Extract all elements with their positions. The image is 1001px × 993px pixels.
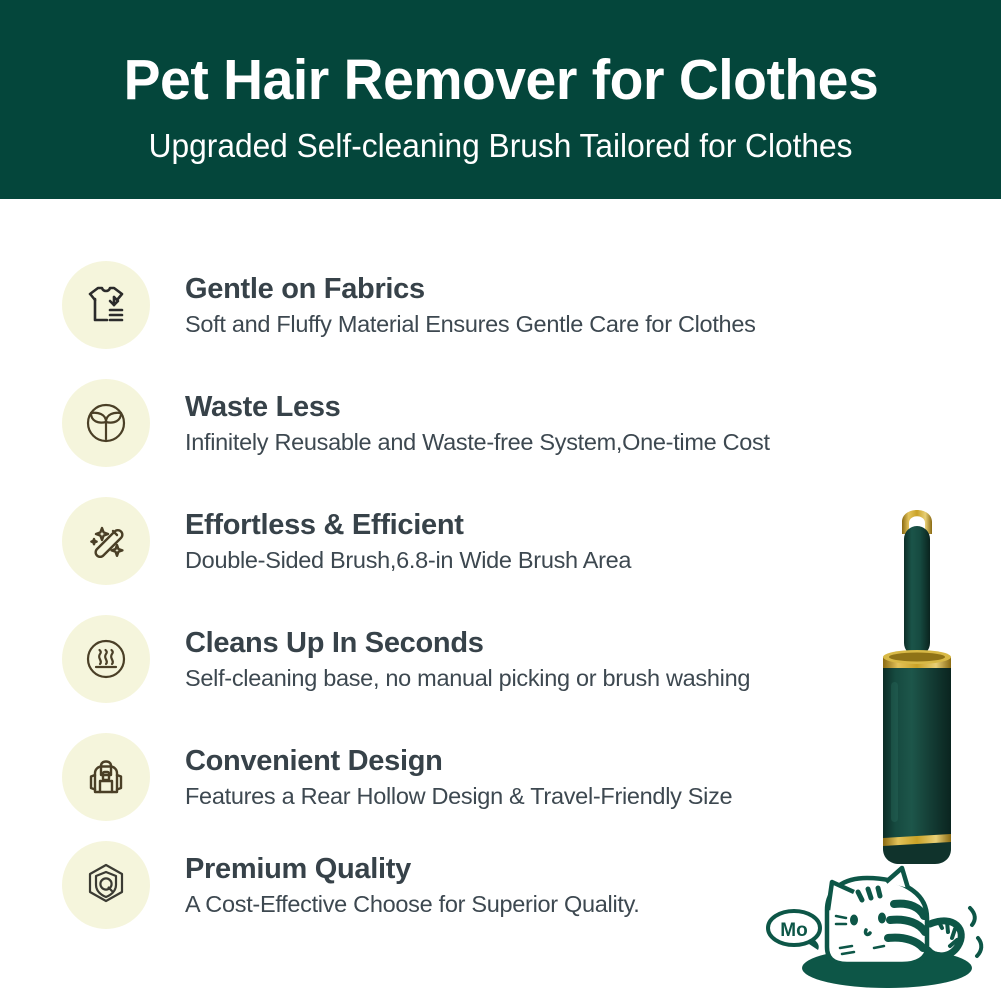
quality-shield-hexagon-icon <box>62 841 150 929</box>
feature-item-cleans-up-in-seconds: Cleans Up In Seconds Self-cleaning base,… <box>62 611 750 707</box>
feature-title: Premium Quality <box>185 852 640 886</box>
feature-item-premium-quality: Premium Quality A Cost-Effective Choose … <box>62 837 640 933</box>
feature-description: A Cost-Effective Choose for Superior Qua… <box>185 889 640 919</box>
page-title: Pet Hair Remover for Clothes <box>123 46 878 114</box>
steam-waves-icon <box>62 615 150 703</box>
feature-item-gentle-on-fabrics: Gentle on Fabrics Soft and Fluffy Materi… <box>62 257 756 353</box>
feature-item-convenient-design: Convenient Design Features a Rear Hollow… <box>62 729 732 825</box>
sprout-leaf-icon <box>62 379 150 467</box>
feature-description: Soft and Fluffy Material Ensures Gentle … <box>185 309 756 339</box>
tshirt-icon <box>62 261 150 349</box>
feature-text-block: Convenient Design Features a Rear Hollow… <box>185 744 732 811</box>
feature-description: Features a Rear Hollow Design & Travel-F… <box>185 781 732 811</box>
feature-title: Cleans Up In Seconds <box>185 626 750 660</box>
cartoon-cat-illustration: Mo <box>762 862 997 990</box>
cat-speech-text: Mo <box>780 920 807 941</box>
page-subtitle: Upgraded Self-cleaning Brush Tailored fo… <box>149 126 853 166</box>
feature-text-block: Cleans Up In Seconds Self-cleaning base,… <box>185 626 750 693</box>
feature-title: Waste Less <box>185 390 770 424</box>
magic-wand-sparkle-icon <box>62 497 150 585</box>
feature-description: Infinitely Reusable and Waste-free Syste… <box>185 427 770 457</box>
feature-title: Convenient Design <box>185 744 732 778</box>
feature-item-effortless-efficient: Effortless & Efficient Double-Sided Brus… <box>62 493 631 589</box>
feature-text-block: Gentle on Fabrics Soft and Fluffy Materi… <box>185 272 756 339</box>
backpack-icon <box>62 733 150 821</box>
feature-description: Double-Sided Brush,6.8-in Wide Brush Are… <box>185 545 631 575</box>
feature-item-waste-less: Waste Less Infinitely Reusable and Waste… <box>62 375 770 471</box>
feature-text-block: Effortless & Efficient Double-Sided Brus… <box>185 508 631 575</box>
feature-title: Effortless & Efficient <box>185 508 631 542</box>
feature-description: Self-cleaning base, no manual picking or… <box>185 663 750 693</box>
infographic-page: Pet Hair Remover for Clothes Upgraded Se… <box>0 0 1001 993</box>
feature-title: Gentle on Fabrics <box>185 272 756 306</box>
header-banner: Pet Hair Remover for Clothes Upgraded Se… <box>0 0 1001 199</box>
product-image-pet-hair-remover <box>855 492 985 892</box>
feature-text-block: Waste Less Infinitely Reusable and Waste… <box>185 390 770 457</box>
feature-text-block: Premium Quality A Cost-Effective Choose … <box>185 852 640 919</box>
